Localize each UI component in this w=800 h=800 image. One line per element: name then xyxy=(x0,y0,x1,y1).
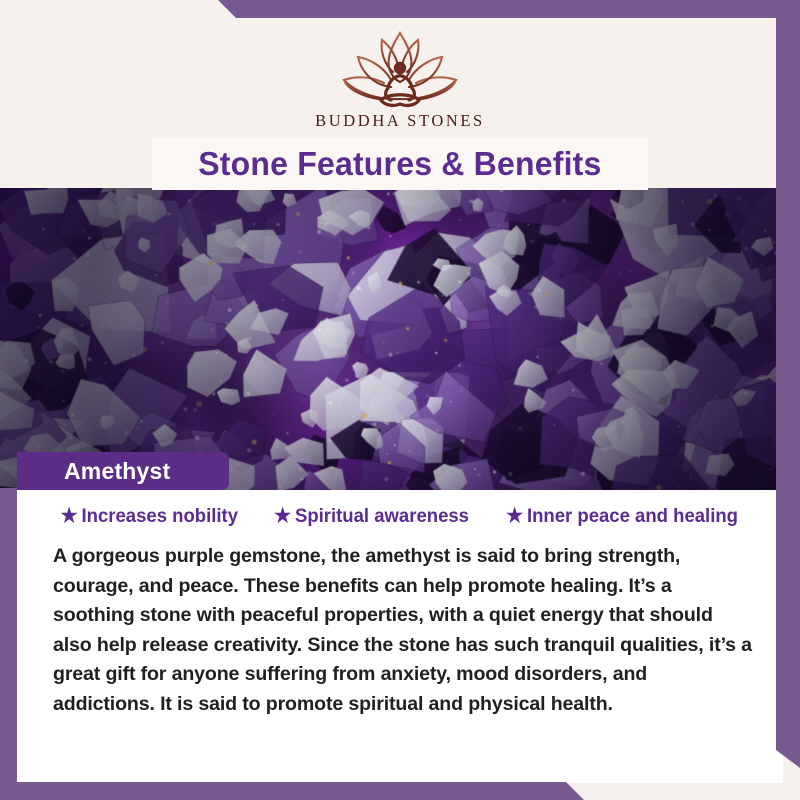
stone-photo xyxy=(0,188,800,490)
stone-name-banner: Amethyst xyxy=(17,452,229,490)
page-title: Stone Features & Benefits xyxy=(198,145,601,183)
brand-name: BUDDHA STONES xyxy=(315,111,485,131)
stone-details-panel: ★Increases nobility★Spiritual awareness★… xyxy=(17,490,783,783)
frame-bottom-bar xyxy=(0,782,800,800)
amethyst-crystal-image xyxy=(0,188,800,490)
benefit-item: ★Spiritual awareness xyxy=(274,505,469,528)
benefits-list: ★Increases nobility★Spiritual awareness★… xyxy=(39,490,761,542)
stone-description: A gorgeous purple gemstone, the amethyst… xyxy=(39,542,761,719)
benefit-label: Inner peace and healing xyxy=(527,505,738,528)
brand-logo: BUDDHA STONES xyxy=(0,18,800,140)
benefit-item: ★Inner peace and healing xyxy=(506,505,738,528)
stone-info-card: BUDDHA STONES Stone Features & Benefits … xyxy=(0,0,800,800)
benefit-label: Increases nobility xyxy=(82,505,238,528)
star-icon: ★ xyxy=(61,506,78,526)
benefit-label: Spiritual awareness xyxy=(295,505,469,528)
star-icon: ★ xyxy=(506,506,523,526)
star-icon: ★ xyxy=(274,506,291,526)
page-title-band: Stone Features & Benefits xyxy=(152,138,648,190)
frame-top-bar xyxy=(0,0,800,18)
frame-right-bar xyxy=(776,0,800,800)
benefit-item: ★Increases nobility xyxy=(61,505,238,528)
frame-left-bar xyxy=(0,488,17,800)
lotus-meditation-icon xyxy=(325,24,475,110)
stone-name: Amethyst xyxy=(64,458,170,485)
